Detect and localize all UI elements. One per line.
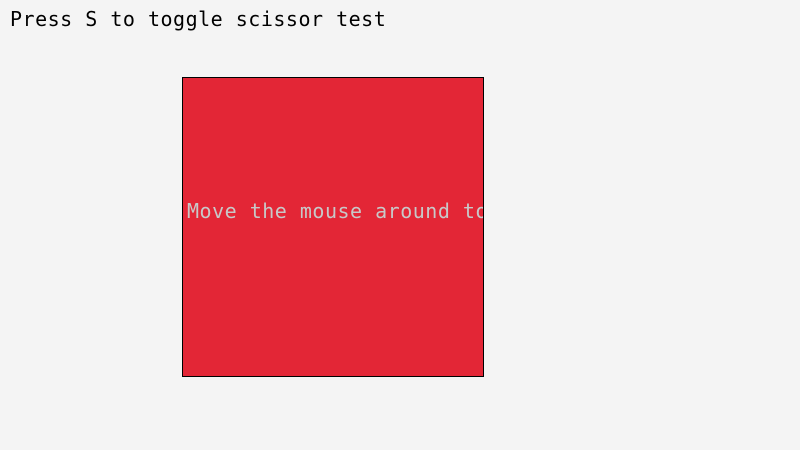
scissor-clip-area: Move the mouse around to reveal this tex… <box>183 78 483 376</box>
clipped-message-text: Move the mouse around to reveal this tex… <box>187 200 483 222</box>
hint-text: Press S to toggle scissor test <box>10 8 386 30</box>
app-canvas[interactable]: Press S to toggle scissor test Move the … <box>0 0 800 450</box>
scissor-rectangle[interactable]: Move the mouse around to reveal this tex… <box>182 77 484 377</box>
